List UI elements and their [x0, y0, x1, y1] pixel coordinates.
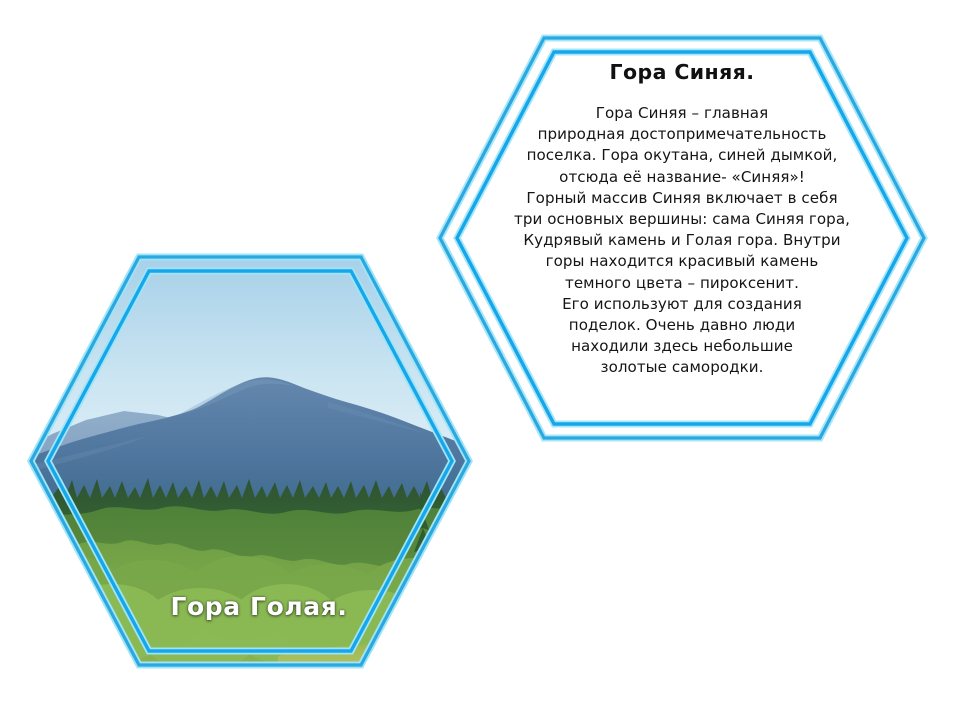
photo-hexagon-card: Гора Голая. — [28, 252, 472, 676]
text-hexagon-card: Гора Синяя. Гора Синяя – главная природн… — [436, 34, 928, 448]
photo-hexagon-border — [28, 252, 472, 676]
text-card-content: Гора Синяя. Гора Синяя – главная природн… — [492, 48, 872, 434]
card-body-text: Гора Синяя – главная природная достоприм… — [514, 103, 850, 379]
slide-canvas: Гора Голая. Гора Синяя. Гора Синяя – гла… — [0, 0, 960, 720]
card-title: Гора Синяя. — [610, 60, 755, 84]
